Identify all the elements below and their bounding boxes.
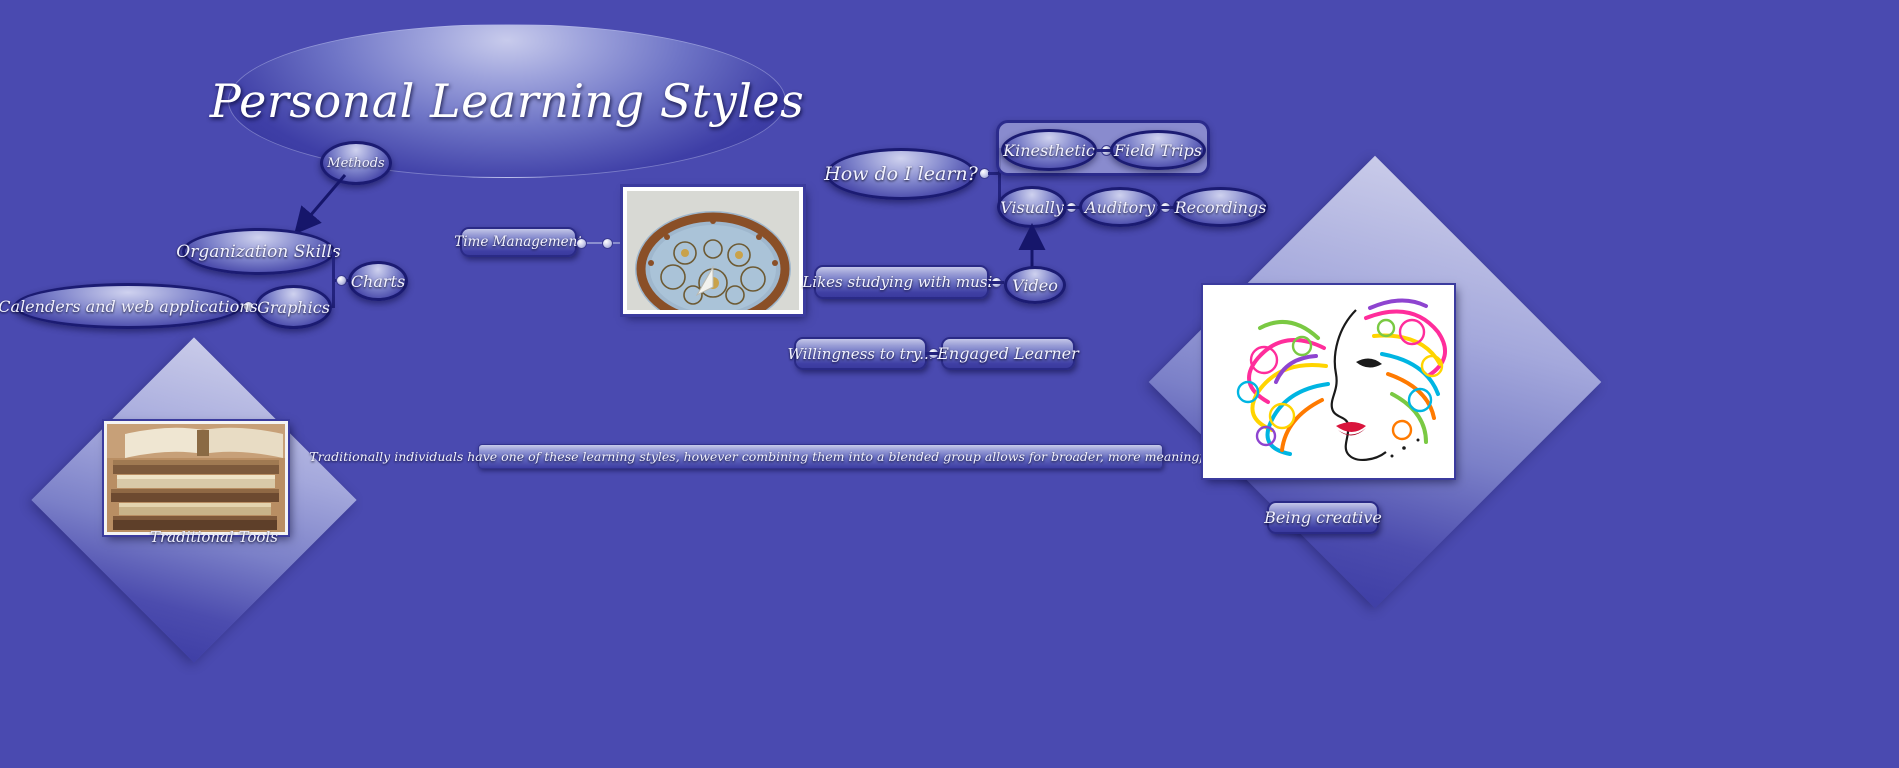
mindmap-canvas: Personal Learning Styles Methods Organiz… bbox=[0, 0, 1899, 768]
node-engaged-learner[interactable]: Engaged Learner bbox=[941, 337, 1075, 370]
node-auditory-label: Auditory bbox=[1085, 198, 1155, 217]
node-how-do-i-learn[interactable]: How do I learn? bbox=[826, 148, 976, 200]
node-willingness-label: Willingness to try... bbox=[787, 345, 933, 363]
page-title-text: Personal Learning Styles bbox=[210, 74, 805, 128]
node-engaged-learner-label: Engaged Learner bbox=[937, 344, 1079, 363]
image-clock bbox=[623, 187, 803, 314]
node-graphics[interactable]: Graphics bbox=[255, 285, 332, 329]
node-calenders-label: Calenders and web applications bbox=[0, 297, 258, 316]
node-time-management-label: Time Management bbox=[454, 234, 583, 250]
node-auditory[interactable]: Auditory bbox=[1079, 187, 1161, 227]
node-kinesthetic[interactable]: Kinesthetic bbox=[1001, 129, 1097, 171]
connector-music-video bbox=[988, 281, 1004, 284]
node-being-creative[interactable]: Being creative bbox=[1267, 501, 1379, 534]
node-charts[interactable]: Charts bbox=[348, 261, 408, 301]
connector-dot-time-management bbox=[576, 238, 587, 249]
node-recordings[interactable]: Recordings bbox=[1173, 187, 1268, 227]
node-likes-studying-with-music[interactable]: Likes studying with music bbox=[814, 265, 989, 299]
node-calenders-web-applications[interactable]: Calenders and web applications bbox=[14, 283, 242, 329]
node-likes-music-label: Likes studying with music bbox=[802, 273, 1000, 291]
node-video-label: Video bbox=[1012, 276, 1058, 295]
connector-dot-clock bbox=[602, 238, 613, 249]
node-being-creative-label: Being creative bbox=[1264, 508, 1382, 527]
node-video[interactable]: Video bbox=[1004, 266, 1066, 304]
node-charts-label: Charts bbox=[351, 272, 405, 291]
node-recordings-label: Recordings bbox=[1175, 198, 1267, 217]
node-how-do-i-learn-label: How do I learn? bbox=[824, 163, 978, 185]
summary-note-text: Traditionally individuals have one of th… bbox=[309, 449, 1331, 464]
node-field-trips-label: Field Trips bbox=[1114, 141, 1202, 160]
node-methods-label: Methods bbox=[327, 156, 384, 171]
summary-note: Traditionally individuals have one of th… bbox=[478, 444, 1163, 469]
node-organization-skills-label: Organization Skills bbox=[176, 242, 340, 262]
node-visually[interactable]: Visually bbox=[997, 186, 1067, 228]
node-graphics-label: Graphics bbox=[257, 298, 330, 317]
node-organization-skills[interactable]: Organization Skills bbox=[182, 228, 335, 275]
caption-traditional-tools: Traditional Tools bbox=[150, 528, 278, 546]
node-time-management[interactable]: Time Management bbox=[460, 227, 577, 257]
node-visually-label: Visually bbox=[1000, 198, 1064, 217]
image-creative-face bbox=[1203, 285, 1454, 478]
bracket-top-left bbox=[332, 252, 336, 255]
connector-dot-charts bbox=[336, 275, 347, 286]
node-kinesthetic-label: Kinesthetic bbox=[1003, 141, 1095, 160]
connector-dot-graphics bbox=[243, 301, 254, 312]
node-willingness-to-try[interactable]: Willingness to try... bbox=[794, 337, 927, 370]
image-books bbox=[104, 421, 288, 535]
page-title: Personal Learning Styles bbox=[228, 24, 786, 178]
node-field-trips[interactable]: Field Trips bbox=[1110, 130, 1206, 170]
